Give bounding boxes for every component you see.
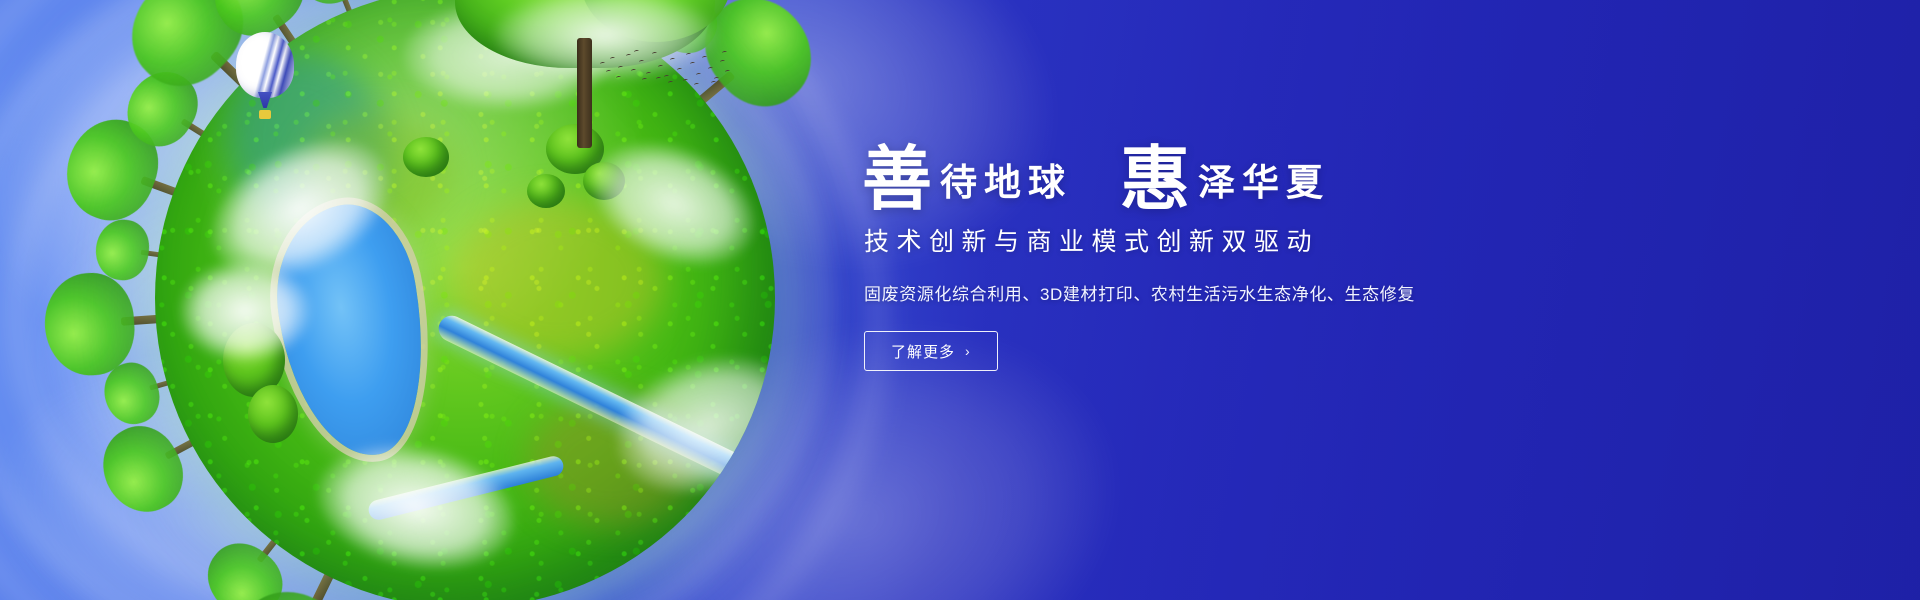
- balloon-envelope: [236, 32, 294, 98]
- bird-mark: [720, 60, 726, 64]
- hero-banner: 善 待地球 惠 泽华夏 技术创新与商业模式创新双驱动 固废资源化综合利用、3D建…: [0, 0, 1920, 600]
- bird-mark: [658, 65, 664, 69]
- bird-mark: [670, 58, 676, 62]
- bird-mark: [708, 67, 714, 71]
- bird-mark: [656, 77, 662, 81]
- bird-mark: [634, 50, 640, 54]
- headline-text-zehuaxia: 泽华夏: [1190, 164, 1330, 201]
- bird-mark: [642, 78, 648, 82]
- bush-clump: [248, 385, 298, 443]
- bird-mark: [694, 83, 700, 87]
- bird-mark: [616, 76, 622, 80]
- bird-mark: [626, 54, 632, 58]
- balloon-tail: [258, 92, 272, 108]
- learn-more-button[interactable]: 了解更多 ›: [864, 331, 998, 371]
- bird-mark: [618, 66, 624, 70]
- banner-description: 固废资源化综合利用、3D建材打印、农村生活污水生态净化、生态修复: [864, 280, 1622, 305]
- bird-mark: [606, 70, 612, 74]
- learn-more-label: 了解更多: [891, 341, 955, 362]
- headline-char-hui: 惠: [1120, 144, 1190, 214]
- bird-mark: [652, 52, 658, 56]
- bird-mark: [639, 60, 645, 64]
- tree-trunk: [577, 38, 592, 148]
- bird-mark: [702, 56, 708, 60]
- bird-mark: [646, 72, 652, 76]
- bird-mark: [722, 51, 728, 55]
- bird-mark: [668, 81, 674, 85]
- bird-mark: [690, 62, 696, 66]
- banner-copy-block: 善 待地球 惠 泽华夏 技术创新与商业模式创新双驱动 固废资源化综合利用、3D建…: [862, 138, 1622, 371]
- bird-mark: [664, 75, 670, 79]
- banner-subtitle: 技术创新与商业模式创新双驱动: [864, 222, 1622, 258]
- bird-mark: [696, 73, 702, 77]
- surface-cloud: [180, 261, 310, 361]
- bird-flock-icon: [598, 48, 728, 90]
- bush-clump: [527, 174, 565, 208]
- bird-mark: [683, 79, 689, 83]
- bird-mark: [631, 69, 637, 73]
- bird-mark: [600, 62, 606, 66]
- bird-mark: [686, 53, 692, 57]
- balloon-basket: [259, 110, 271, 119]
- bird-mark: [677, 68, 683, 72]
- headline-char-shan: 善: [862, 144, 932, 214]
- bush-clump: [403, 137, 449, 177]
- page-title: 善 待地球 惠 泽华夏: [862, 138, 1622, 208]
- hot-air-balloon-icon: [236, 32, 294, 124]
- headline-text-daidiqiu: 待地球: [932, 164, 1072, 201]
- bird-mark: [711, 81, 717, 85]
- chevron-right-icon: ›: [965, 343, 971, 359]
- bird-mark: [610, 57, 616, 61]
